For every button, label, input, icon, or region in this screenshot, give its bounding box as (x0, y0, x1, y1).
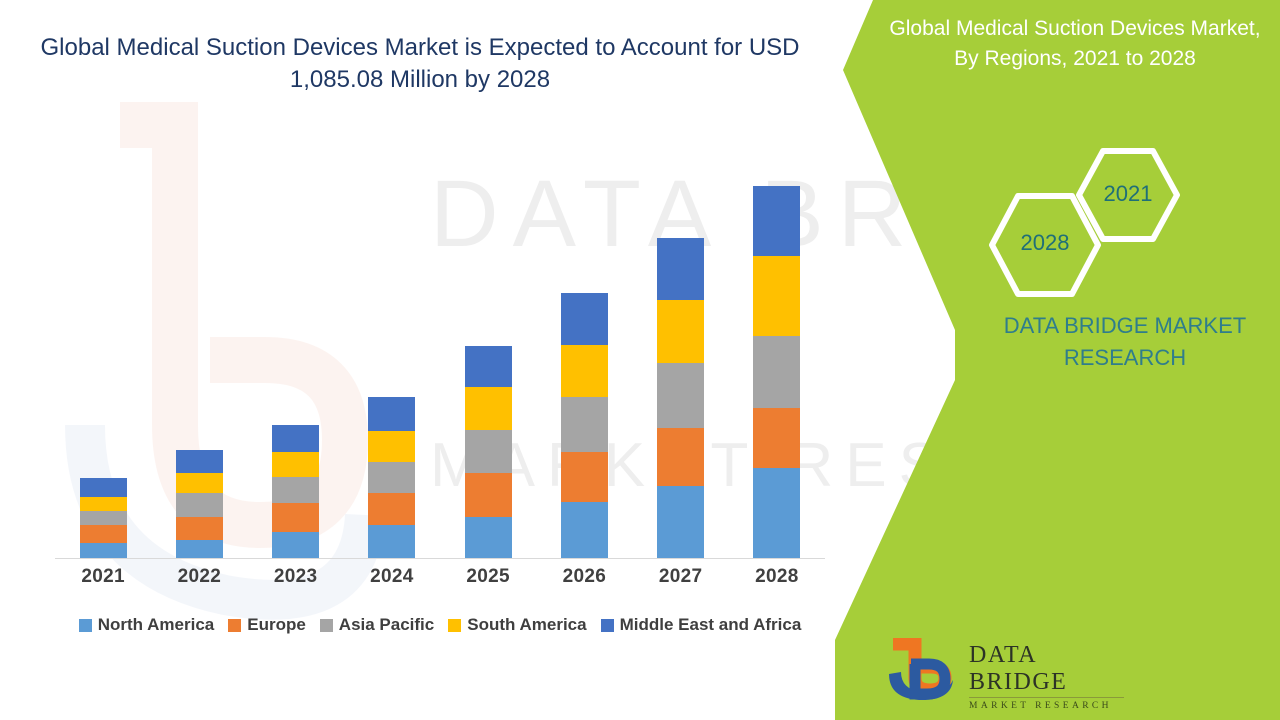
slide-root: DATA BRIDGE MARKET RESEARCH Global Medic… (0, 0, 1280, 720)
bar-segment-middle-east-and-africa[interactable] (272, 425, 319, 452)
bar-segment-north-america[interactable] (176, 540, 223, 558)
bar-column-2026[interactable] (536, 150, 632, 558)
stacked-bar[interactable] (657, 238, 704, 558)
bar-segment-asia-pacific[interactable] (80, 511, 127, 525)
bar-column-2024[interactable] (344, 150, 440, 558)
bar-segment-middle-east-and-africa[interactable] (80, 478, 127, 497)
x-axis-label-2025: 2025 (440, 566, 536, 596)
bar-segment-south-america[interactable] (80, 497, 127, 511)
bar-segment-north-america[interactable] (465, 517, 512, 558)
bar-column-2022[interactable] (151, 150, 247, 558)
bar-segment-north-america[interactable] (561, 502, 608, 558)
bar-segment-asia-pacific[interactable] (657, 363, 704, 428)
legend-label: South America (467, 615, 586, 635)
x-axis-labels: 20212022202320242025202620272028 (55, 566, 825, 596)
chart-panel: Global Medical Suction Devices Market is… (0, 0, 880, 720)
legend-label: Asia Pacific (339, 615, 434, 635)
legend-swatch-icon (79, 619, 92, 632)
bar-segment-middle-east-and-africa[interactable] (176, 450, 223, 473)
legend-swatch-icon (601, 619, 614, 632)
legend-item-middle-east-and-africa[interactable]: Middle East and Africa (601, 615, 802, 635)
bar-segment-south-america[interactable] (272, 452, 319, 477)
logo-tagline: MARKET RESEARCH (969, 701, 1124, 711)
stacked-bar[interactable] (80, 478, 127, 558)
legend-item-south-america[interactable]: South America (448, 615, 586, 635)
x-axis-label-2021: 2021 (55, 566, 151, 596)
bar-segment-europe[interactable] (368, 493, 415, 525)
bar-column-2025[interactable] (440, 150, 536, 558)
logo-mark-icon (885, 638, 965, 704)
bar-segment-europe[interactable] (465, 473, 512, 517)
logo-divider (969, 697, 1124, 698)
bar-segment-middle-east-and-africa[interactable] (657, 238, 704, 300)
data-bridge-logo: DATA BRIDGE MARKET RESEARCH (885, 638, 1115, 708)
bar-segment-europe[interactable] (561, 452, 608, 502)
x-axis-label-2024: 2024 (344, 566, 440, 596)
bar-segment-europe[interactable] (176, 517, 223, 540)
bar-segment-south-america[interactable] (753, 256, 800, 336)
bar-segment-europe[interactable] (753, 408, 800, 468)
hexagon-group: 2021 2028 (985, 145, 1185, 275)
legend-item-asia-pacific[interactable]: Asia Pacific (320, 615, 434, 635)
chart-title: Global Medical Suction Devices Market is… (40, 32, 800, 97)
chart-legend: North AmericaEuropeAsia PacificSouth Ame… (55, 615, 825, 635)
bar-segment-middle-east-and-africa[interactable] (753, 186, 800, 256)
right-panel-title-line: Global Medical Suction Devices Market, (885, 14, 1265, 44)
bar-segment-south-america[interactable] (465, 387, 512, 430)
stacked-bar[interactable] (561, 293, 608, 558)
hexagon-2028: 2028 (985, 190, 1105, 305)
stacked-bar[interactable] (465, 346, 512, 558)
bar-column-2021[interactable] (55, 150, 151, 558)
legend-swatch-icon (320, 619, 333, 632)
bar-column-2028[interactable] (729, 150, 825, 558)
legend-label: Middle East and Africa (620, 615, 802, 635)
legend-swatch-icon (448, 619, 461, 632)
bar-column-2027[interactable] (633, 150, 729, 558)
bar-segment-asia-pacific[interactable] (272, 477, 319, 503)
bar-segment-south-america[interactable] (368, 431, 415, 462)
bar-segment-asia-pacific[interactable] (176, 493, 223, 517)
bar-segment-middle-east-and-africa[interactable] (465, 346, 512, 387)
bar-segment-middle-east-and-africa[interactable] (561, 293, 608, 345)
bar-column-2023[interactable] (248, 150, 344, 558)
stacked-bar[interactable] (753, 186, 800, 558)
bar-segment-north-america[interactable] (657, 486, 704, 558)
legend-item-north-america[interactable]: North America (79, 615, 215, 635)
legend-label: North America (98, 615, 215, 635)
hexagon-2028-label: 2028 (985, 230, 1105, 256)
x-axis-label-2026: 2026 (536, 566, 632, 596)
bar-segment-north-america[interactable] (80, 543, 127, 558)
bar-segment-north-america[interactable] (272, 532, 319, 558)
legend-swatch-icon (228, 619, 241, 632)
bar-segment-europe[interactable] (272, 503, 319, 532)
x-axis-label-2028: 2028 (729, 566, 825, 596)
x-axis-label-2022: 2022 (151, 566, 247, 596)
right-panel-title: Global Medical Suction Devices Market,By… (885, 14, 1265, 75)
logo-name: DATA BRIDGE (969, 642, 1124, 696)
x-axis-label-2027: 2027 (633, 566, 729, 596)
stacked-bar[interactable] (176, 450, 223, 558)
bar-segment-south-america[interactable] (176, 473, 223, 493)
bar-segment-south-america[interactable] (657, 300, 704, 363)
bar-chart-plot (55, 150, 825, 558)
brand-name-text: DATA BRIDGE MARKET RESEARCH (965, 310, 1280, 374)
right-panel-title-line: By Regions, 2021 to 2028 (885, 44, 1265, 74)
bar-segment-asia-pacific[interactable] (465, 430, 512, 473)
bar-segment-europe[interactable] (80, 525, 127, 543)
bar-segment-middle-east-and-africa[interactable] (368, 397, 415, 431)
logo-wordmark: DATA BRIDGE MARKET RESEARCH (969, 642, 1124, 711)
bar-segment-south-america[interactable] (561, 345, 608, 397)
x-axis-line (55, 558, 825, 559)
bar-segment-north-america[interactable] (753, 468, 800, 558)
bar-segment-north-america[interactable] (368, 525, 415, 558)
bar-segment-asia-pacific[interactable] (753, 336, 800, 408)
legend-item-europe[interactable]: Europe (228, 615, 306, 635)
bar-segment-asia-pacific[interactable] (368, 462, 415, 493)
x-axis-label-2023: 2023 (248, 566, 344, 596)
bar-segment-europe[interactable] (657, 428, 704, 486)
stacked-bar[interactable] (272, 425, 319, 558)
bar-segment-asia-pacific[interactable] (561, 397, 608, 452)
stacked-bar[interactable] (368, 397, 415, 558)
legend-label: Europe (247, 615, 306, 635)
